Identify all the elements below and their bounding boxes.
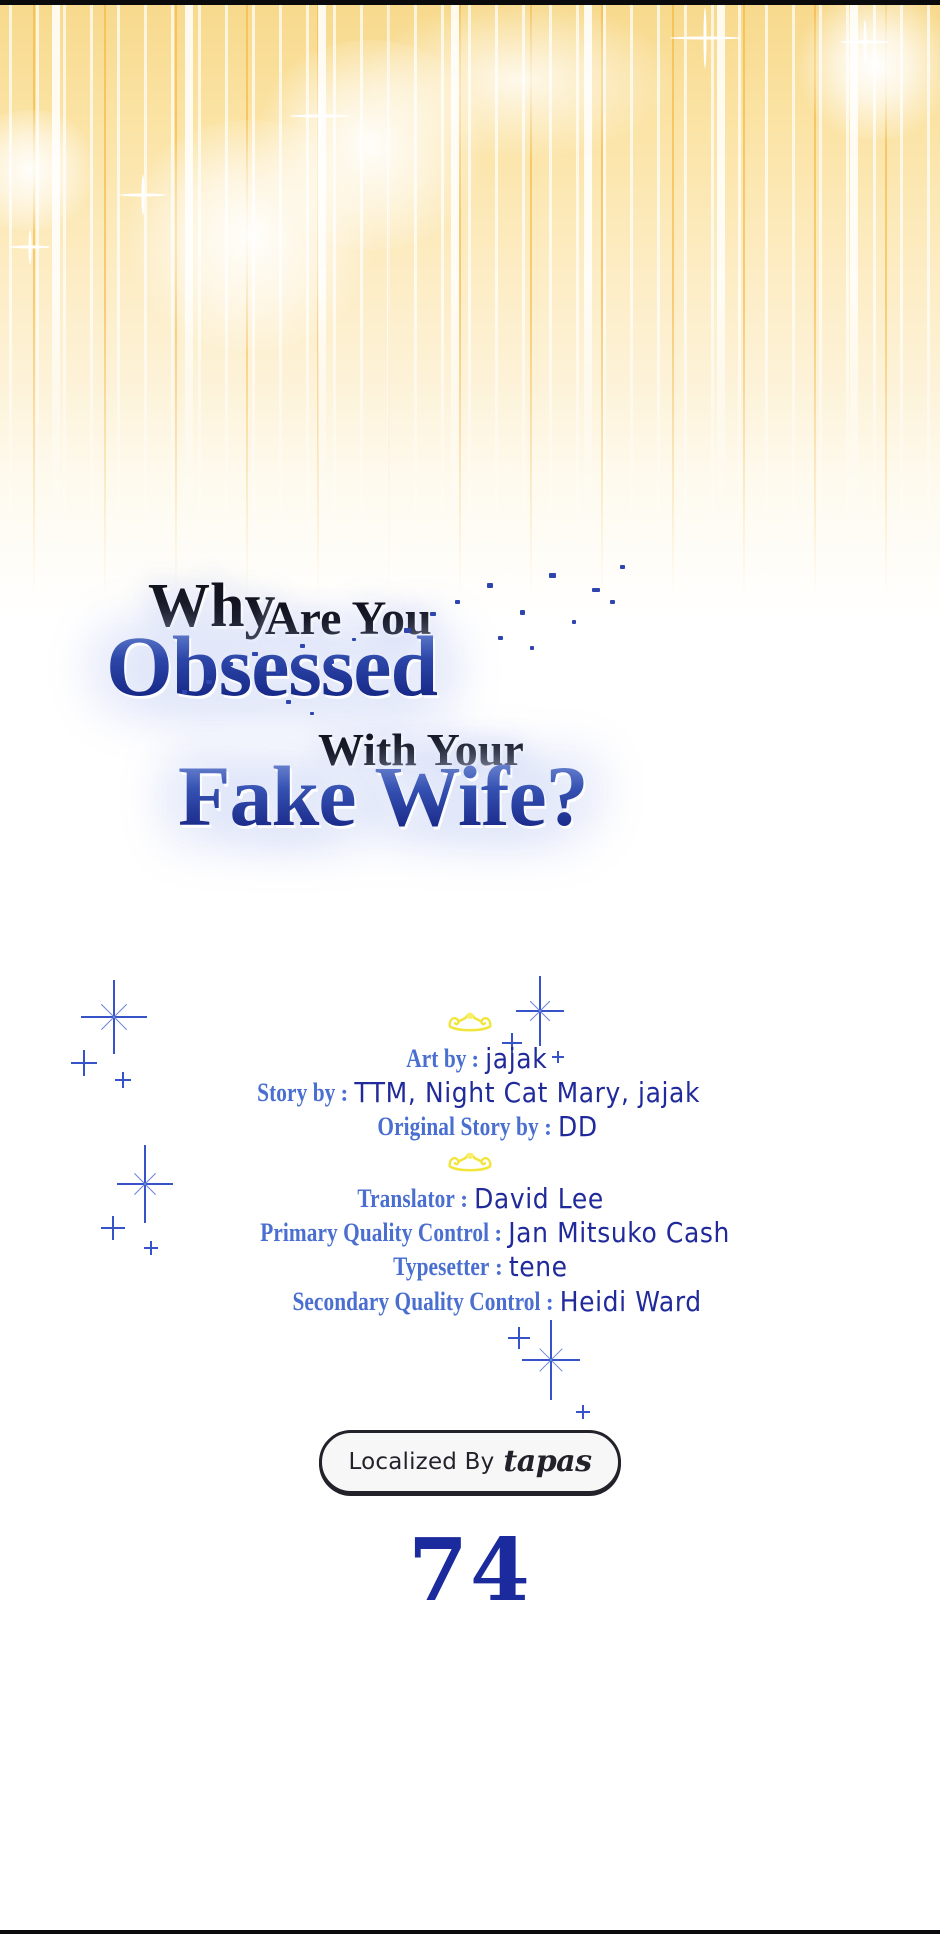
title-line-fake-wife: Fake Wife?: [178, 753, 588, 839]
credit-name: DD: [558, 1109, 598, 1145]
tiara-icon: [446, 1148, 494, 1174]
credit-role: Story by: [257, 1076, 335, 1110]
badge-label: Localized By: [348, 1449, 494, 1475]
tapas-logo: tapas: [503, 1444, 591, 1479]
credits-primary: Art by : jajak Story by : TTM, Night Cat…: [0, 1008, 940, 1145]
localized-by-badge-wrap: Localized By tapas: [0, 1430, 940, 1494]
credit-separator: :: [335, 1079, 354, 1110]
credit-role: Translator: [358, 1182, 456, 1216]
credit-role: Primary Quality Control: [260, 1216, 489, 1250]
credit-separator: :: [541, 1288, 560, 1319]
credit-name: tene: [509, 1249, 568, 1285]
credit-row: Story by : TTM, Night Cat Mary, jajak: [0, 1076, 940, 1110]
credit-role: Typesetter: [394, 1250, 490, 1284]
credit-name: David Lee: [474, 1181, 604, 1217]
credit-row: Original Story by : DD: [0, 1110, 940, 1144]
title-card-page: Why Are You Obsessed With Your Fake Wife…: [0, 0, 940, 1934]
credit-row: Translator : David Lee: [0, 1182, 940, 1216]
credit-role: Art by: [406, 1042, 466, 1076]
tiara-icon: [446, 1008, 494, 1034]
credit-separator: :: [539, 1113, 558, 1144]
credit-row: Art by : jajak: [0, 1042, 940, 1076]
credit-row: Primary Quality Control : Jan Mitsuko Ca…: [0, 1216, 940, 1250]
credit-name: jajak: [485, 1041, 547, 1077]
credit-separator: :: [466, 1045, 485, 1076]
background-white-streaks: [0, 0, 940, 560]
credit-row: Typesetter : tene: [0, 1250, 940, 1284]
credit-separator: :: [489, 1219, 508, 1250]
credit-separator: :: [490, 1253, 509, 1284]
episode-number: 74: [0, 1520, 940, 1621]
localized-by-tapas-badge[interactable]: Localized By tapas: [319, 1430, 620, 1494]
title-line-obsessed: Obsessed: [106, 623, 437, 709]
credit-row: Secondary Quality Control : Heidi Ward: [0, 1285, 940, 1319]
bottom-divider-rule: [0, 1930, 940, 1934]
credit-role: Secondary Quality Control: [293, 1285, 541, 1319]
credit-role: Original Story by: [378, 1110, 539, 1144]
credit-name: TTM, Night Cat Mary, jajak: [354, 1075, 700, 1111]
credit-separator: :: [455, 1185, 474, 1216]
credits-localization: Translator : David Lee Primary Quality C…: [0, 1148, 940, 1319]
top-divider-rule: [0, 0, 940, 5]
credit-name: Jan Mitsuko Cash: [508, 1215, 730, 1251]
credit-name: Heidi Ward: [560, 1284, 702, 1320]
